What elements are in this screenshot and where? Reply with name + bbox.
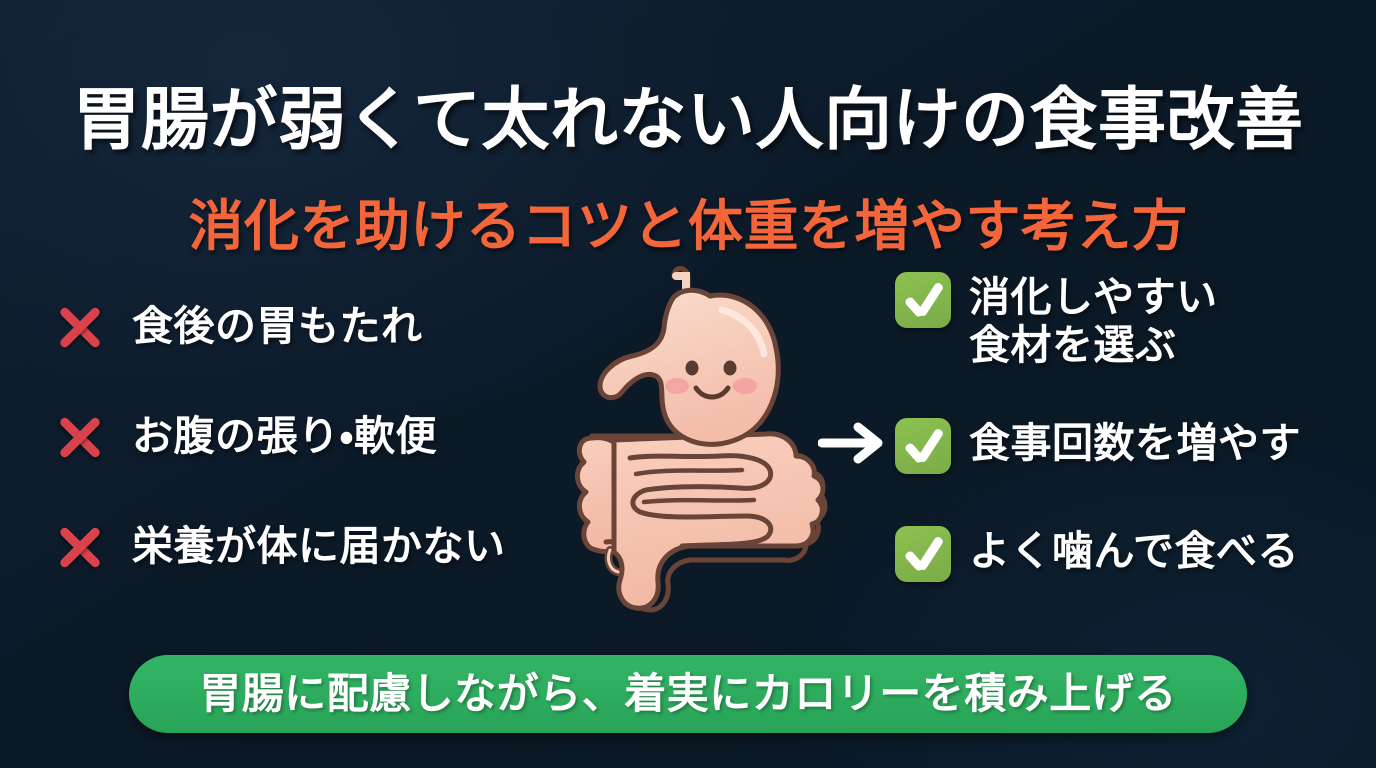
problem-item-label: お腹の張り・軟便 xyxy=(112,413,437,461)
page-title: 胃腸が弱くて太れない人向けの食事改善 xyxy=(0,84,1376,157)
solution-item: 消化しやすい 食材を選ぶ xyxy=(895,272,1365,418)
solutions-column: 消化しやすい 食材を選ぶ 食事回数を増やす よく噛んで食べる xyxy=(895,272,1365,622)
infographic-slide: 胃腸が弱くて太れない人向けの食事改善 消化を助けるコツと体重を増やす考え方 食後… xyxy=(0,0,1376,768)
page-subtitle: 消化を助けるコツと体重を増やす考え方 xyxy=(0,196,1376,257)
x-mark-icon xyxy=(48,515,112,579)
summary-banner: 胃腸に配慮しながら、着実にカロリーを積み上げる xyxy=(129,655,1247,733)
x-mark-icon xyxy=(48,295,112,359)
large-intestine-shape xyxy=(577,434,825,610)
problem-item-label: 栄養が体に届かない xyxy=(112,523,506,571)
problem-item: お腹の張り・軟便 xyxy=(48,382,578,492)
problems-column: 食後の胃もたれ お腹の張り・軟便 栄養が体に届かない xyxy=(48,272,578,622)
solution-item-label: よく噛んで食べる xyxy=(951,526,1299,576)
x-mark-icon xyxy=(48,405,112,469)
solution-item-label: 食事回数を増やす xyxy=(951,418,1301,468)
problem-item: 栄養が体に届かない xyxy=(48,492,578,602)
summary-banner-label: 胃腸に配慮しながら、着実にカロリーを積み上げる xyxy=(199,673,1177,715)
solution-item: 食事回数を増やす xyxy=(895,418,1365,526)
right-arrow-icon xyxy=(818,415,888,471)
check-box-icon xyxy=(895,526,951,582)
problem-item: 食後の胃もたれ xyxy=(48,272,578,382)
check-box-icon xyxy=(895,272,951,328)
check-box-icon xyxy=(895,418,951,474)
problem-item-label: 食後の胃もたれ xyxy=(112,303,423,351)
solution-item: よく噛んで食べる xyxy=(895,526,1365,582)
solution-item-label: 消化しやすい 食材を選ぶ xyxy=(951,272,1218,369)
